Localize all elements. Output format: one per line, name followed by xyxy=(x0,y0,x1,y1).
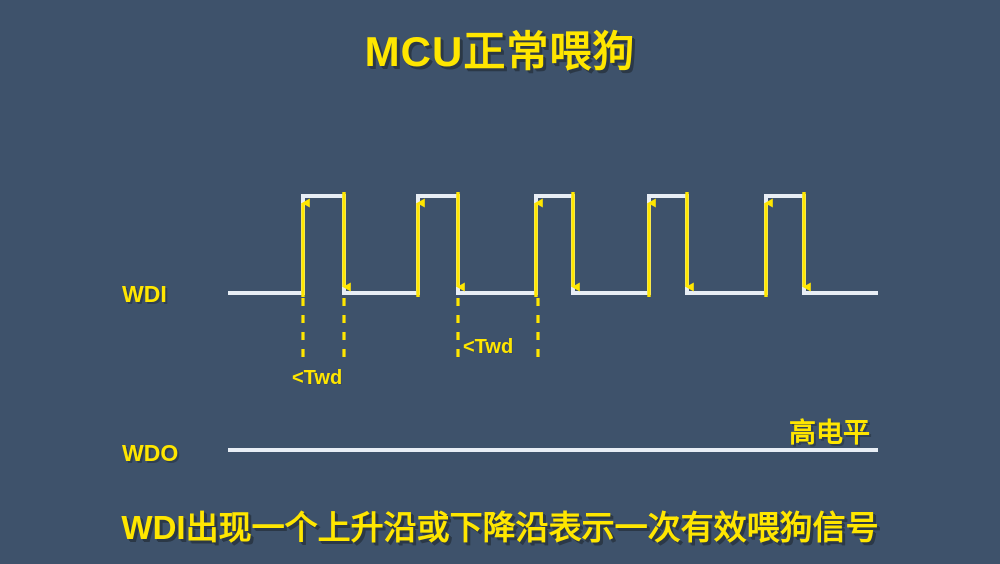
slide-caption: WDI出现一个上升沿或下降沿表示一次有效喂狗信号 xyxy=(0,501,1000,549)
wdo-signal-label: WDO xyxy=(122,440,178,467)
high-level-annotation: 高电平 xyxy=(789,411,870,450)
wdi-signal-label: WDI xyxy=(122,281,167,308)
twd-annotation-first: <Twd xyxy=(292,367,342,390)
twd-annotation-second: <Twd xyxy=(463,336,513,359)
wdi-waveform-trace xyxy=(228,196,878,293)
slide-canvas: MCU正常喂狗 xyxy=(0,0,1000,564)
wdi-edge-arrows xyxy=(303,192,804,297)
